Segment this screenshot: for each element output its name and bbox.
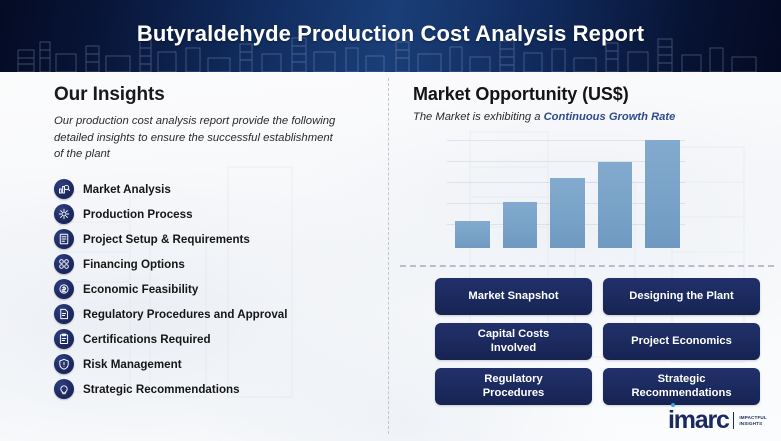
insight-label: Market Analysis: [83, 183, 171, 196]
subtitle-plain-text: The Market is exhibiting a: [413, 111, 544, 123]
chart-bar: [550, 178, 585, 248]
logo-tagline: IMPACTFUL INSIGHTS: [739, 415, 767, 427]
imarc-logo[interactable]: imarc IMPACTFUL INSIGHTS: [668, 408, 767, 433]
report-slide: Butyraldehyde Production Cost Analysis R…: [0, 0, 781, 441]
logo-wordmark-text: imarc: [668, 406, 729, 434]
insight-item-financing-options[interactable]: Financing Options: [54, 252, 384, 277]
insights-panel: Our Insights Our production cost analysi…: [54, 84, 384, 402]
chart-bar: [598, 162, 633, 248]
insight-item-regulatory-procedures[interactable]: Regulatory Procedures and Approval: [54, 302, 384, 327]
risk-management-icon: [54, 354, 74, 374]
project-setup-icon: [54, 229, 74, 249]
vertical-divider: [388, 78, 389, 434]
strategic-recommendations-icon: [54, 379, 74, 399]
economic-feasibility-icon: [54, 279, 74, 299]
production-process-icon: [54, 204, 74, 224]
insight-label: Strategic Recommendations: [83, 383, 240, 396]
chart-bar: [455, 221, 490, 248]
logo-tagline-line2: INSIGHTS: [739, 421, 767, 427]
insight-label: Regulatory Procedures and Approval: [83, 308, 287, 321]
insight-item-economic-feasibility[interactable]: Economic Feasibility: [54, 277, 384, 302]
chip-project-economics[interactable]: Project Economics: [603, 323, 760, 360]
logo-dot-icon: [671, 403, 675, 407]
chip-regulatory-procedures[interactable]: Regulatory Procedures: [435, 368, 592, 405]
certifications-icon: [54, 329, 74, 349]
chip-capital-costs-involved[interactable]: Capital Costs Involved: [435, 323, 592, 360]
insight-label: Production Process: [83, 208, 193, 221]
chip-market-snapshot[interactable]: Market Snapshot: [435, 278, 592, 315]
insights-list: Market Analysis Production Process: [54, 177, 384, 402]
chip-strategic-recommendations[interactable]: Strategic Recommendations: [603, 368, 760, 405]
insight-item-risk-management[interactable]: Risk Management: [54, 352, 384, 377]
page-title: Butyraldehyde Production Cost Analysis R…: [0, 21, 781, 47]
insight-label: Financing Options: [83, 258, 185, 271]
logo-tagline-line1: IMPACTFUL: [739, 415, 767, 421]
page-header: Butyraldehyde Production Cost Analysis R…: [0, 0, 781, 72]
insight-item-project-setup[interactable]: Project Setup & Requirements: [54, 227, 384, 252]
topic-chip-grid: Market Snapshot Designing the Plant Capi…: [435, 278, 760, 405]
market-analysis-icon: [54, 179, 74, 199]
financing-options-icon: [54, 254, 74, 274]
chart-bar: [503, 202, 538, 248]
insight-label: Risk Management: [83, 358, 182, 371]
regulatory-procedures-icon: [54, 304, 74, 324]
chip-designing-the-plant[interactable]: Designing the Plant: [603, 278, 760, 315]
chart-bars: [455, 140, 680, 248]
market-opportunity-chart: [455, 140, 680, 248]
insights-subtitle: Our production cost analysis report prov…: [54, 113, 338, 163]
logo-wordmark: imarc: [668, 408, 729, 433]
insight-item-certifications[interactable]: Certifications Required: [54, 327, 384, 352]
market-opportunity-subtitle: The Market is exhibiting a Continuous Gr…: [413, 111, 769, 123]
subtitle-accent-text: Continuous Growth Rate: [544, 111, 676, 123]
chart-baseline-divider: [400, 265, 774, 267]
logo-divider-icon: [733, 412, 735, 429]
chart-bar: [645, 140, 680, 248]
market-opportunity-panel: Market Opportunity (US$) The Market is e…: [413, 84, 769, 123]
insight-label: Economic Feasibility: [83, 283, 198, 296]
insight-item-strategic-recommendations[interactable]: Strategic Recommendations: [54, 377, 384, 402]
insight-item-production-process[interactable]: Production Process: [54, 202, 384, 227]
insights-title: Our Insights: [54, 84, 384, 106]
insight-label: Project Setup & Requirements: [83, 233, 250, 246]
insight-item-market-analysis[interactable]: Market Analysis: [54, 177, 384, 202]
market-opportunity-title: Market Opportunity (US$): [413, 84, 769, 105]
insight-label: Certifications Required: [83, 333, 211, 346]
